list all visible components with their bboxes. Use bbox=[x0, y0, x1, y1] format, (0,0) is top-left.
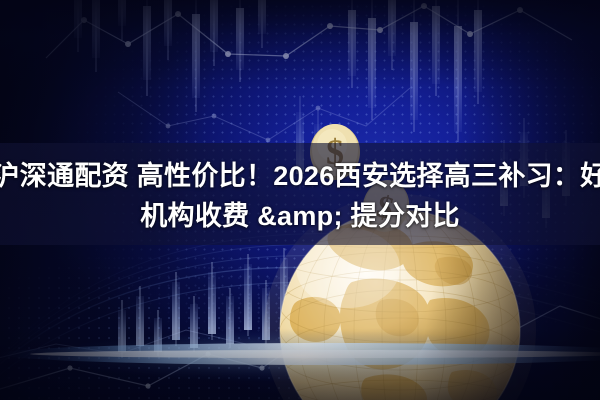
title-overlay-band bbox=[0, 143, 600, 245]
banner-image: $ $ 沪深通配资 高性价比！2026西安选择高三补习：好 机构收费 &amp;… bbox=[0, 0, 600, 400]
